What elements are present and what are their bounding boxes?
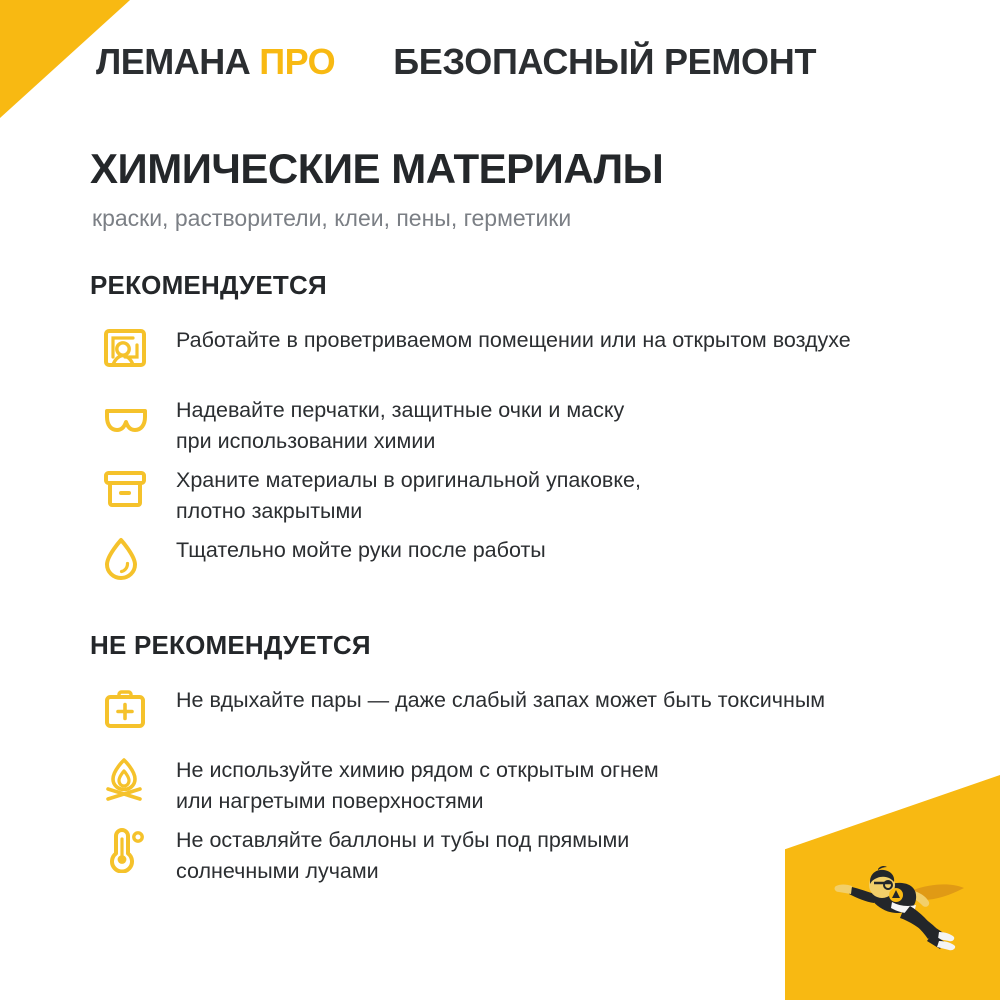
- section-heading-recommended: РЕКОМЕНДУЕТСЯ: [90, 270, 920, 301]
- poster-header: ЛЕМАНАПРО БЕЗОПАСНЫЙ РЕМОНТ: [96, 44, 816, 80]
- list-item-label: Не оставляйте баллоны и тубы под прямыми…: [176, 817, 920, 886]
- campaign-title: БЕЗОПАСНЫЙ РЕМОНТ: [393, 44, 816, 80]
- recommended-list: Работайте в проветриваемом помещении или…: [90, 317, 920, 597]
- water-drop-icon: [90, 527, 176, 589]
- list-item: Тщательно мойте руки после работы: [90, 527, 920, 597]
- safety-poster: ЛЕМАНАПРО БЕЗОПАСНЫЙ РЕМОНТ ХИМИЧЕСКИЕ М…: [0, 0, 1000, 1000]
- brand-logo: ЛЕМАНАПРО: [96, 44, 335, 80]
- safety-goggles-icon: [90, 387, 176, 449]
- list-item-label: Тщательно мойте руки после работы: [176, 527, 920, 566]
- first-aid-kit-icon: [90, 677, 176, 739]
- list-item: Не вдыхайте пары — даже слабый запах мож…: [90, 677, 920, 747]
- campfire-icon: [90, 747, 176, 809]
- storage-box-icon: [90, 457, 176, 519]
- list-item-label: Не вдыхайте пары — даже слабый запах мож…: [176, 677, 920, 716]
- page-subtitle: краски, растворители, клеи, пены, гермет…: [92, 204, 571, 234]
- thermometer-icon: [90, 817, 176, 879]
- brand-name-accent: ПРО: [259, 41, 335, 82]
- list-item: Не оставляйте баллоны и тубы под прямыми…: [90, 817, 920, 887]
- page-title: ХИМИЧЕСКИЕ МАТЕРИАЛЫ: [90, 147, 663, 191]
- list-item: Храните материалы в оригинальной упаковк…: [90, 457, 920, 527]
- flying-superhero-mascot: [818, 842, 978, 962]
- list-item-label: Работайте в проветриваемом помещении или…: [176, 317, 920, 356]
- ventilated-room-icon: [90, 317, 176, 379]
- list-item-label: Надевайте перчатки, защитные очки и маск…: [176, 387, 920, 456]
- not-recommended-list: Не вдыхайте пары — даже слабый запах мож…: [90, 677, 920, 887]
- list-item: Надевайте перчатки, защитные очки и маск…: [90, 387, 920, 457]
- list-item-label: Не используйте химию рядом с открытым ог…: [176, 747, 920, 816]
- list-item-label: Храните материалы в оригинальной упаковк…: [176, 457, 920, 526]
- section-heading-not-recommended: НЕ РЕКОМЕНДУЕТСЯ: [90, 630, 920, 661]
- list-item: Не используйте химию рядом с открытым ог…: [90, 747, 920, 817]
- section-recommended: РЕКОМЕНДУЕТСЯ Работайте в проветриваемом…: [90, 270, 920, 597]
- section-not-recommended: НЕ РЕКОМЕНДУЕТСЯ Не вдыхайте пары — даже…: [90, 630, 920, 887]
- brand-name-main: ЛЕМАНА: [96, 41, 250, 82]
- list-item: Работайте в проветриваемом помещении или…: [90, 317, 920, 387]
